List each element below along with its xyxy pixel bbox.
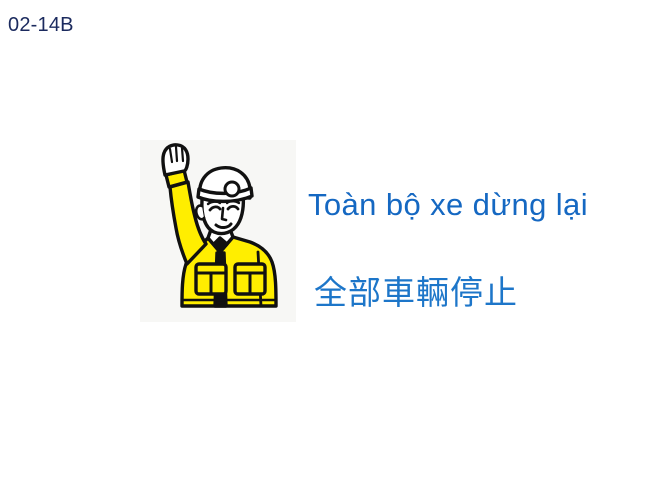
right-chest-pocket	[235, 264, 265, 294]
cap-badge	[225, 182, 239, 196]
traffic-police-figure-icon	[140, 140, 296, 322]
slide-code-label: 02-14B	[8, 13, 74, 37]
slide-canvas: 02-14B	[0, 0, 672, 504]
traffic-police-illustration	[140, 140, 296, 322]
left-chest-pocket	[196, 264, 226, 294]
caption-vietnamese: Toàn bộ xe dừng lại	[308, 186, 588, 224]
caption-chinese: 全部車輛停止	[314, 272, 518, 314]
